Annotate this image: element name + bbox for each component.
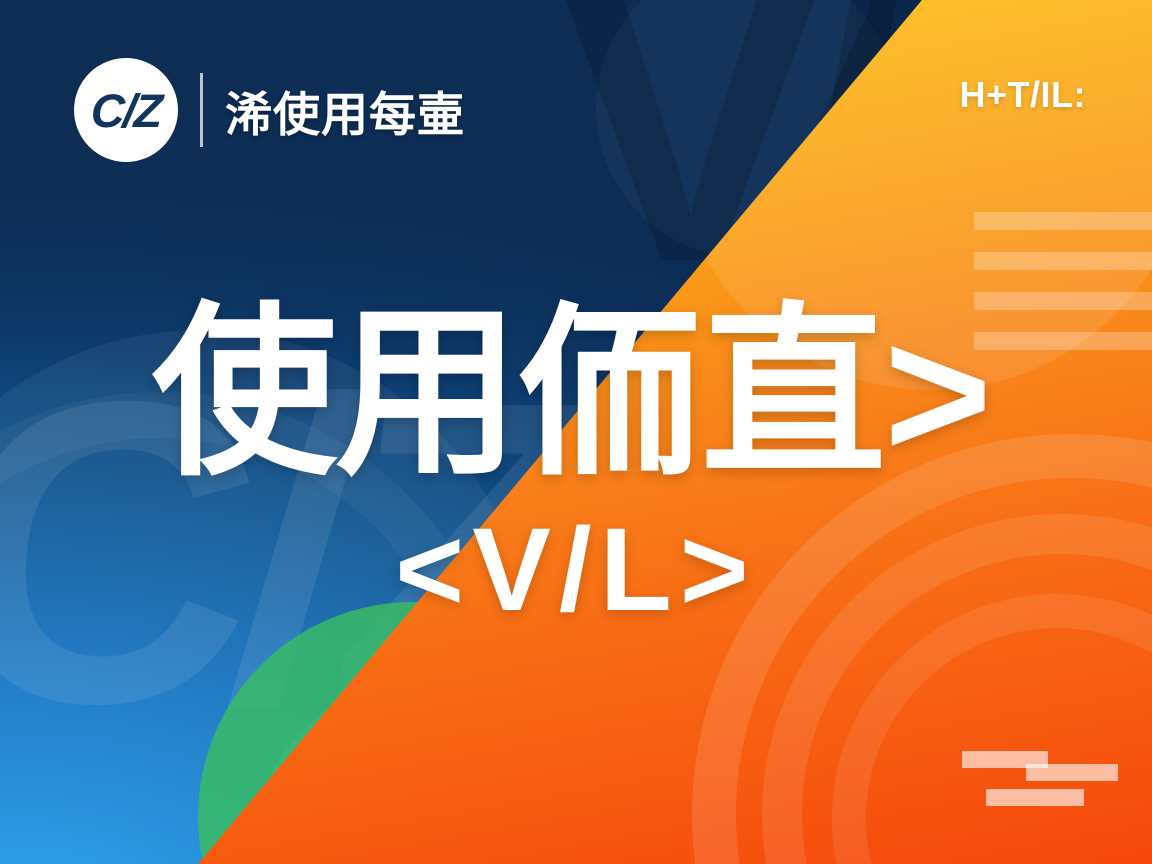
logo-text: C/Z — [90, 87, 162, 134]
slide-canvas: C/Z V/ C/Z 浠使用每壷 H+T/IL: — [0, 0, 1152, 864]
stripe-bar-2 — [974, 252, 1152, 270]
eyebrow-label: H+T/IL: — [960, 74, 1087, 116]
title-block: 使用侕直> <V/L> — [0, 300, 1152, 629]
vertical-divider — [200, 73, 203, 147]
bar-mark-3 — [986, 789, 1084, 806]
bar-mark-decoration — [962, 751, 1092, 806]
cz-circle-logo-icon: C/Z — [74, 58, 178, 162]
stripe-bar-1 — [974, 212, 1152, 230]
brand-title: 浠使用每壷 — [225, 76, 465, 145]
header-lockup: C/Z 浠使用每壷 — [74, 58, 465, 162]
page-subtitle: <V/L> — [0, 511, 1152, 629]
bar-mark-2 — [1026, 764, 1118, 781]
page-title: 使用侕直> — [0, 300, 1152, 489]
